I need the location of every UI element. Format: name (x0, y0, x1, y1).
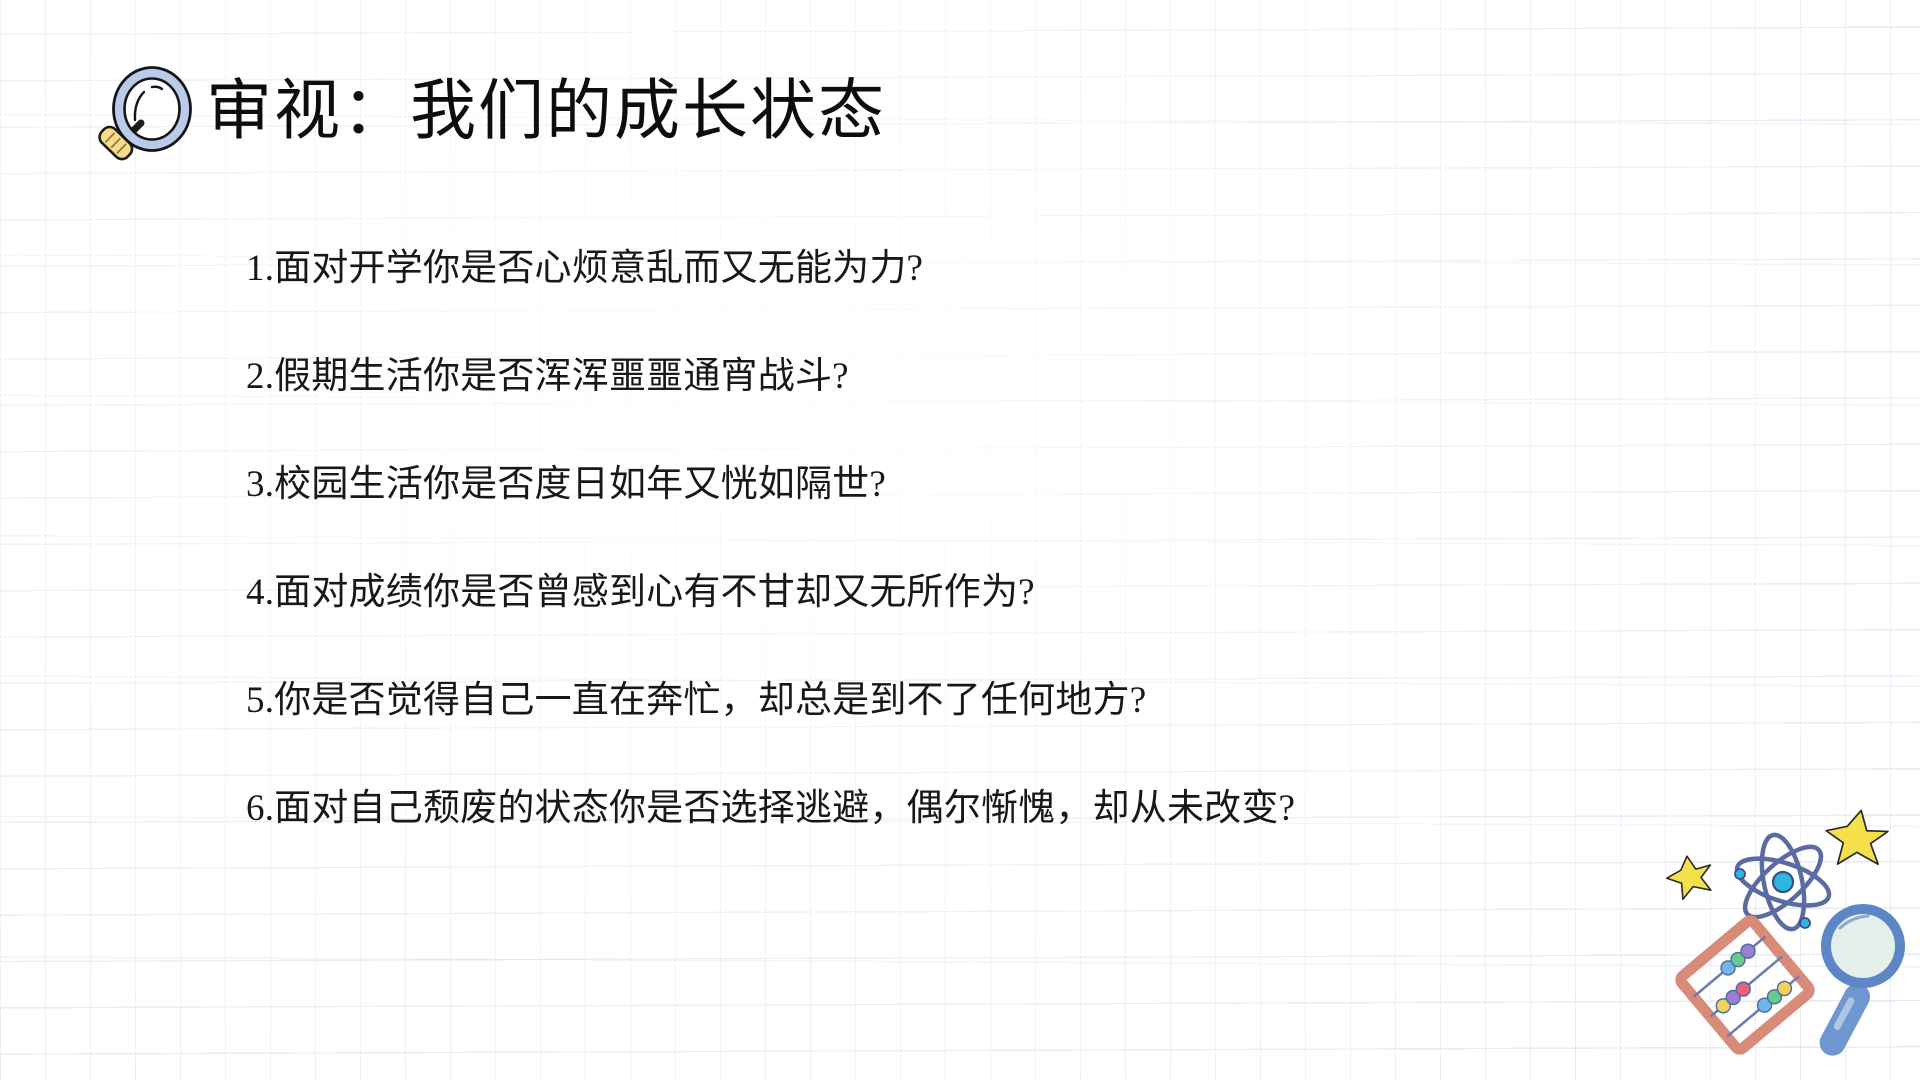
question-list: 1.面对开学你是否心烦意乱而又无能为力? 2.假期生活你是否浑浑噩噩通宵战斗? … (246, 250, 1726, 827)
slide-title-row: 审视：我们的成长状态 (78, 62, 886, 166)
list-item: 5.你是否觉得自己一直在奔忙，却总是到不了任何地方? (246, 682, 1726, 719)
list-item: 2.假期生活你是否浑浑噩噩通宵战斗? (246, 358, 1726, 395)
magnifying-glass-icon (78, 62, 196, 166)
science-doodle-cluster (1660, 800, 1920, 1080)
page-title: 审视：我们的成长状态 (206, 77, 886, 150)
list-item: 4.面对成绩你是否曾感到心有不甘却又无所作为? (246, 574, 1726, 611)
slide-canvas: 审视：我们的成长状态 1.面对开学你是否心烦意乱而又无能为力? 2.假期生活你是… (0, 0, 1920, 1080)
star-large-right-icon (1821, 805, 1891, 872)
abacus-icon (1679, 919, 1811, 1051)
list-item: 3.校园生活你是否度日如年又恍如隔世? (246, 466, 1726, 503)
list-item: 6.面对自己颓废的状态你是否选择逃避，偶尔惭愧，却从未改变? (246, 790, 1726, 827)
star-small-left-icon (1664, 853, 1714, 901)
list-item: 1.面对开学你是否心烦意乱而又无能为力? (246, 250, 1726, 287)
atom-nucleus (1773, 872, 1793, 892)
magnifying-glass-icon (1815, 904, 1905, 1060)
